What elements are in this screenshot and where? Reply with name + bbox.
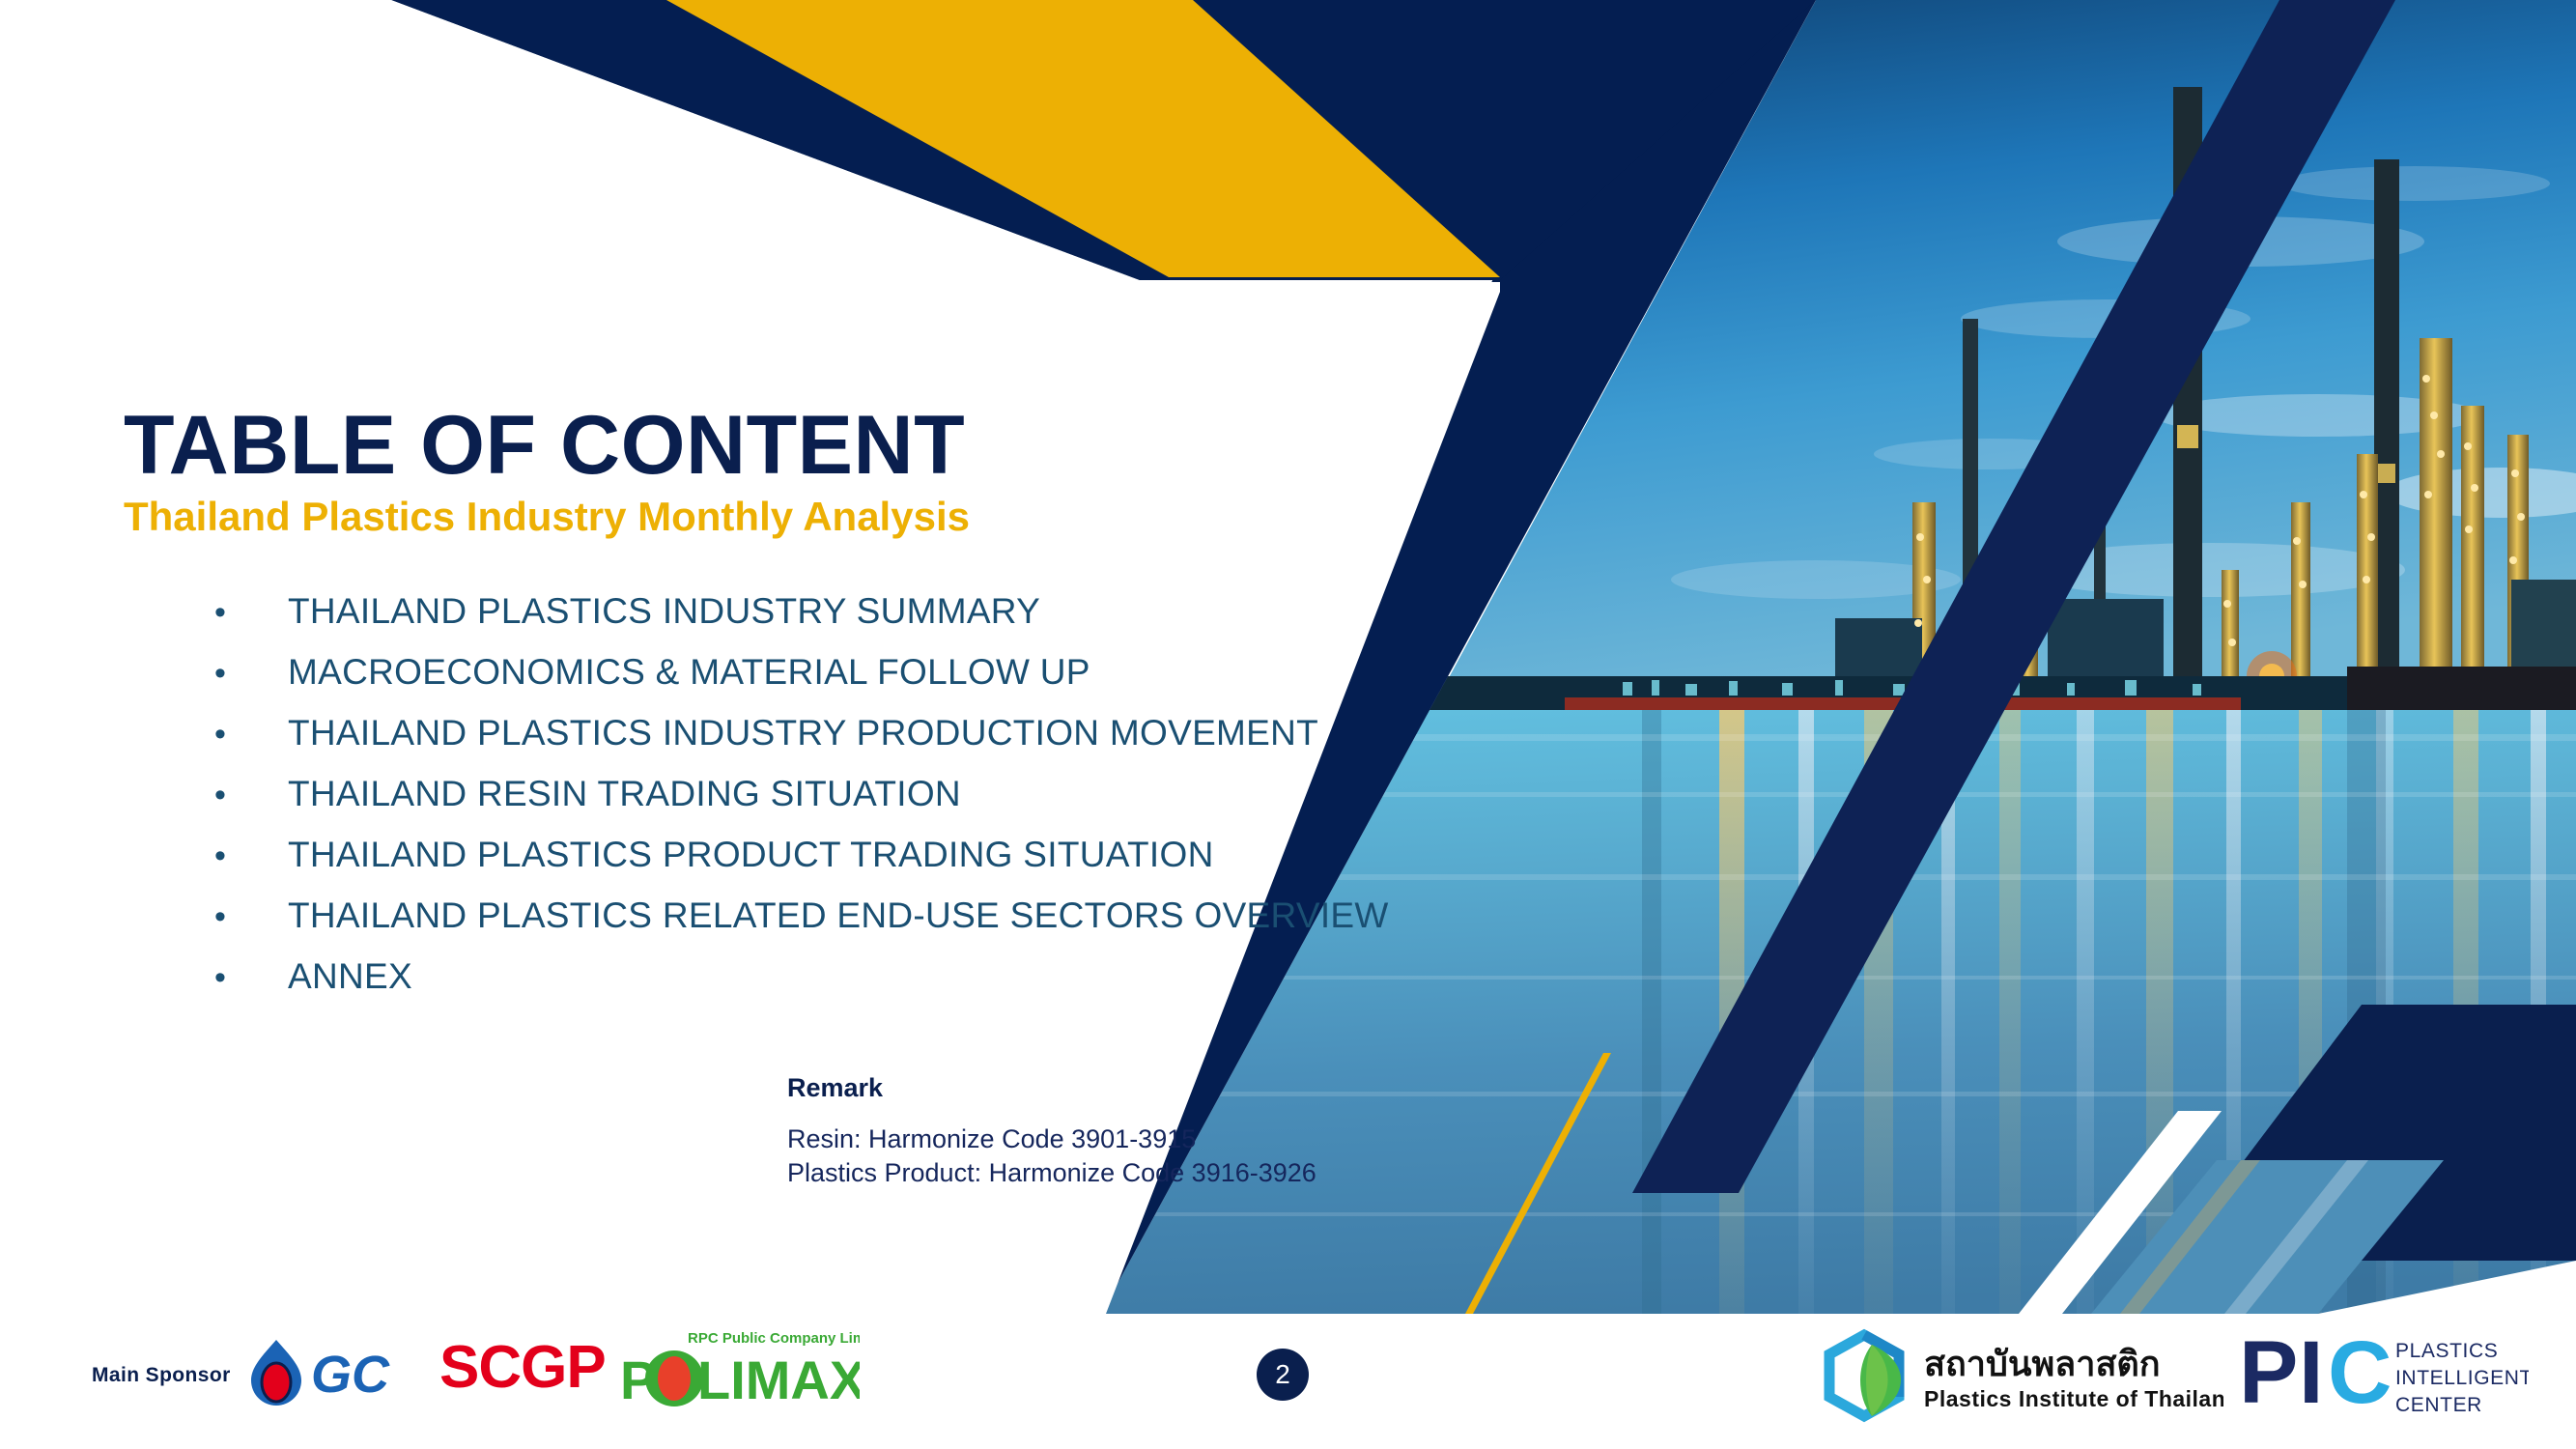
- bullet-icon: •: [214, 839, 288, 872]
- toc-item-6[interactable]: • ANNEX: [214, 958, 1389, 1019]
- toc-item-0[interactable]: • THAILAND PLASTICS INDUSTRY SUMMARY: [214, 593, 1389, 654]
- toc-item-5[interactable]: • THAILAND PLASTICS RELATED END-USE SECT…: [214, 897, 1389, 958]
- toc-item-label: THAILAND RESIN TRADING SITUATION: [288, 776, 961, 811]
- pit-thai-name: สถาบันพลาสติก: [1924, 1344, 2161, 1383]
- bullet-icon: •: [214, 779, 288, 811]
- page-title: TABLE OF CONTENT: [124, 404, 970, 487]
- remark-block: Remark Resin: Harmonize Code 3901-3915 P…: [787, 1075, 1316, 1190]
- scgp-wordmark: SCGP: [439, 1338, 606, 1398]
- toc-item-label: ANNEX: [288, 958, 412, 994]
- remark-line-resin: Resin: Harmonize Code 3901-3915: [787, 1122, 1316, 1156]
- remark-heading: Remark: [787, 1075, 1316, 1101]
- toc-item-label: THAILAND PLASTICS INDUSTRY SUMMARY: [288, 593, 1040, 629]
- toc-item-label: THAILAND PLASTICS PRODUCT TRADING SITUAT…: [288, 837, 1214, 872]
- bullet-icon: •: [214, 718, 288, 751]
- logo-plastics-institute-thailand: สถาบันพลาสติก Plastics Institute of Thai…: [1818, 1327, 2223, 1429]
- toc-item-3[interactable]: • THAILAND RESIN TRADING SITUATION: [214, 776, 1389, 837]
- bullet-icon: •: [214, 961, 288, 994]
- toc-item-label: THAILAND PLASTICS RELATED END-USE SECTOR…: [288, 897, 1389, 933]
- logo-scgp: SCGP: [439, 1338, 606, 1398]
- logo-plastics-intelligent-center: P I C PLASTICS INTELLIGENT CENTER: [2239, 1325, 2529, 1427]
- pic-line-plastics: PLASTICS: [2395, 1340, 2498, 1362]
- pic-letter-p: P: [2239, 1325, 2298, 1422]
- slide: TABLE OF CONTENT Thailand Plastics Indus…: [0, 0, 2576, 1449]
- table-of-contents-list: • THAILAND PLASTICS INDUSTRY SUMMARY • M…: [214, 593, 1389, 1019]
- title-block: TABLE OF CONTENT Thailand Plastics Indus…: [124, 404, 970, 537]
- main-sponsor-label: Main Sponsor: [92, 1364, 231, 1387]
- polimaxx-wordmark-rest: LIMAXX: [697, 1350, 860, 1408]
- page-subtitle: Thailand Plastics Industry Monthly Analy…: [124, 497, 970, 537]
- polimaxx-tagline: RPC Public Company Limited: [688, 1330, 860, 1347]
- pic-letter-c: C: [2328, 1325, 2392, 1422]
- toc-item-1[interactable]: • MACROECONOMICS & MATERIAL FOLLOW UP: [214, 654, 1389, 715]
- polimaxx-wordmark-p: P: [620, 1350, 656, 1408]
- logo-gc: GC: [243, 1338, 417, 1412]
- pit-english-name: Plastics Institute of Thailand: [1924, 1386, 2223, 1411]
- bullet-icon: •: [214, 657, 288, 690]
- toc-item-label: THAILAND PLASTICS INDUSTRY PRODUCTION MO…: [288, 715, 1318, 751]
- page-number-badge: 2: [1257, 1349, 1309, 1401]
- toc-item-4[interactable]: • THAILAND PLASTICS PRODUCT TRADING SITU…: [214, 837, 1389, 897]
- remark-line-product: Plastics Product: Harmonize Code 3916-39…: [787, 1156, 1316, 1190]
- pic-letter-i: I: [2299, 1325, 2324, 1422]
- bullet-icon: •: [214, 596, 288, 629]
- pic-line-intelligent: INTELLIGENT: [2395, 1367, 2529, 1389]
- toc-item-2[interactable]: • THAILAND PLASTICS INDUSTRY PRODUCTION …: [214, 715, 1389, 776]
- logo-polimaxx: RPC Public Company Limited P LIMAXX: [618, 1325, 860, 1413]
- gc-wordmark: GC: [311, 1346, 390, 1404]
- pic-line-center: CENTER: [2395, 1394, 2482, 1416]
- bullet-icon: •: [214, 900, 288, 933]
- gc-logo-icon: GC: [243, 1338, 417, 1407]
- pit-logo-icon: สถาบันพลาสติก Plastics Institute of Thai…: [1818, 1327, 2223, 1424]
- polimaxx-logo-icon: RPC Public Company Limited P LIMAXX: [618, 1325, 860, 1408]
- toc-item-label: MACROECONOMICS & MATERIAL FOLLOW UP: [288, 654, 1090, 690]
- pic-logo-icon: P I C PLASTICS INTELLIGENT CENTER: [2239, 1325, 2529, 1422]
